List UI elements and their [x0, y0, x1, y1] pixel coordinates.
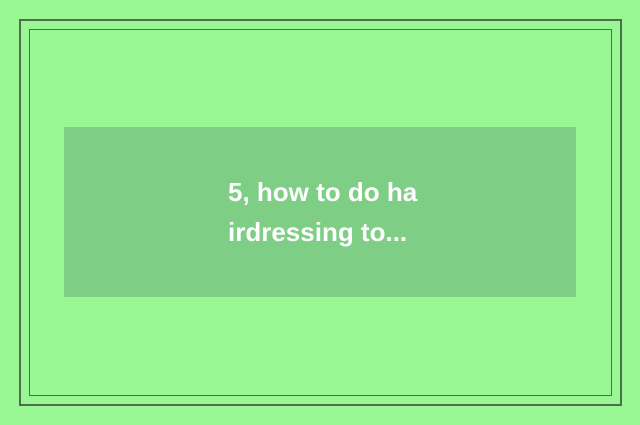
- caption-line-2: irdressing to...: [228, 212, 556, 252]
- caption-line-1: 5, how to do ha: [228, 172, 556, 212]
- caption-panel: 5, how to do ha irdressing to...: [64, 127, 576, 297]
- slide-canvas: 5, how to do ha irdressing to...: [0, 0, 640, 425]
